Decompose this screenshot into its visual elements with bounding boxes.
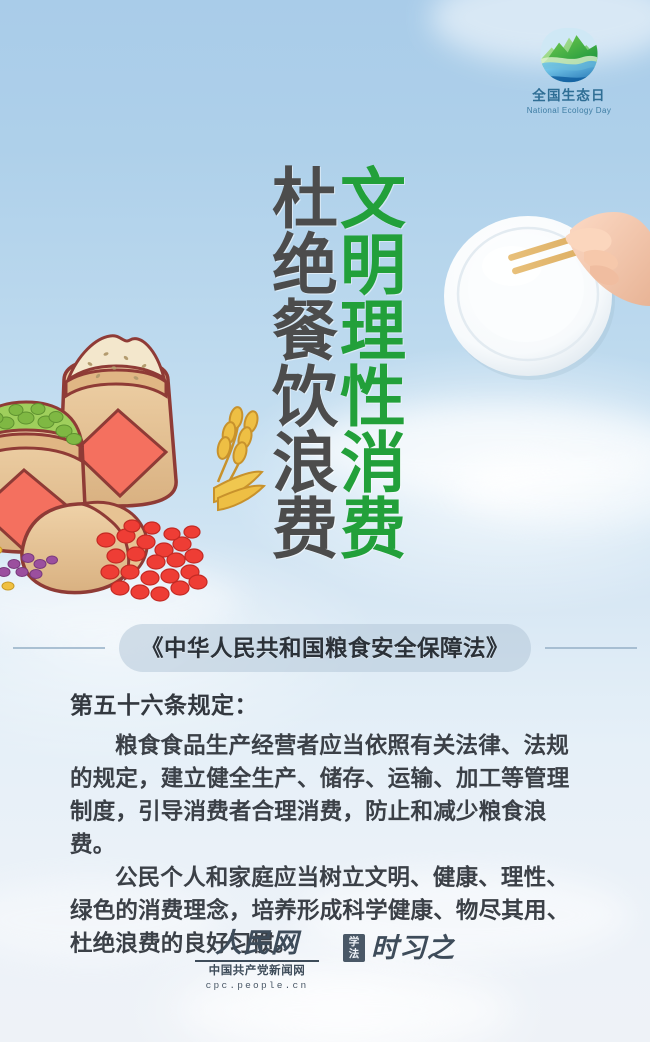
footer-logos: 人民网 中国共产党新闻网 cpc.people.cn 学 法 时习之 [0,930,650,991]
peoples-daily-url: cpc.people.cn [195,980,319,991]
wheat-icon [214,406,264,510]
title-char: 绝 [272,232,338,298]
poster-root: 全国生态日 National Ecology Day [0,0,650,1042]
title-char: 性 [340,364,406,430]
title-char: 费 [340,496,406,562]
peoples-daily-brand: 人民网 [195,930,319,957]
article-paragraph: 粮食食品生产经营者应当依照有关法律、法规的规定，建立健全生产、储存、运输、加工等… [70,729,590,861]
title-char: 杜 [272,166,338,232]
mountain-water-emblem-icon [538,24,600,86]
empty-plate-with-chopsticks-illustration [438,178,650,400]
title-column-green: 文 明 理 性 消 费 [340,166,406,562]
title-char: 理 [340,298,406,364]
logo-name-en: National Ecology Day [507,106,631,115]
title-char: 明 [340,232,406,298]
xuefa-shixizhi-logo: 学 法 时习之 [343,930,455,962]
national-ecology-day-logo: 全国生态日 National Ecology Day [507,24,631,115]
peoples-daily-logo: 人民网 中国共产党新闻网 cpc.people.cn [195,930,319,991]
title-char: 饮 [272,364,338,430]
poster-title: 杜 绝 餐 饮 浪 费 文 明 理 性 消 费 [272,166,406,562]
title-column-dark: 杜 绝 餐 饮 浪 费 [272,166,338,562]
title-char: 文 [340,166,406,232]
law-title-banner: 《中华人民共和国粮食安全保障法》 [0,625,650,671]
shixizhi-text: 时习之 [371,935,455,962]
title-char: 费 [272,496,338,562]
cloud-decoration [455,455,650,525]
law-title-text: 《中华人民共和国粮食安全保障法》 [119,624,531,672]
seal-char-bottom: 法 [343,948,365,960]
peoples-daily-sub: 中国共产党新闻网 [195,964,319,979]
law-body: 第五十六条规定： 粮食食品生产经营者应当依照有关法律、法规的规定，建立健全生产、… [70,686,590,960]
title-char: 消 [340,430,406,496]
logo-divider [195,960,319,962]
seal-char-top: 学 [343,936,365,948]
divider-left [13,647,105,649]
xuefa-seal-icon: 学 法 [343,934,365,962]
article-heading: 第五十六条规定： [70,686,590,720]
title-char: 餐 [272,298,338,364]
title-char: 浪 [272,430,338,496]
divider-right [545,647,637,649]
grain-sacks-illustration [0,292,266,602]
red-bean-sack-icon [22,502,207,601]
logo-name-cn: 全国生态日 [507,89,631,104]
